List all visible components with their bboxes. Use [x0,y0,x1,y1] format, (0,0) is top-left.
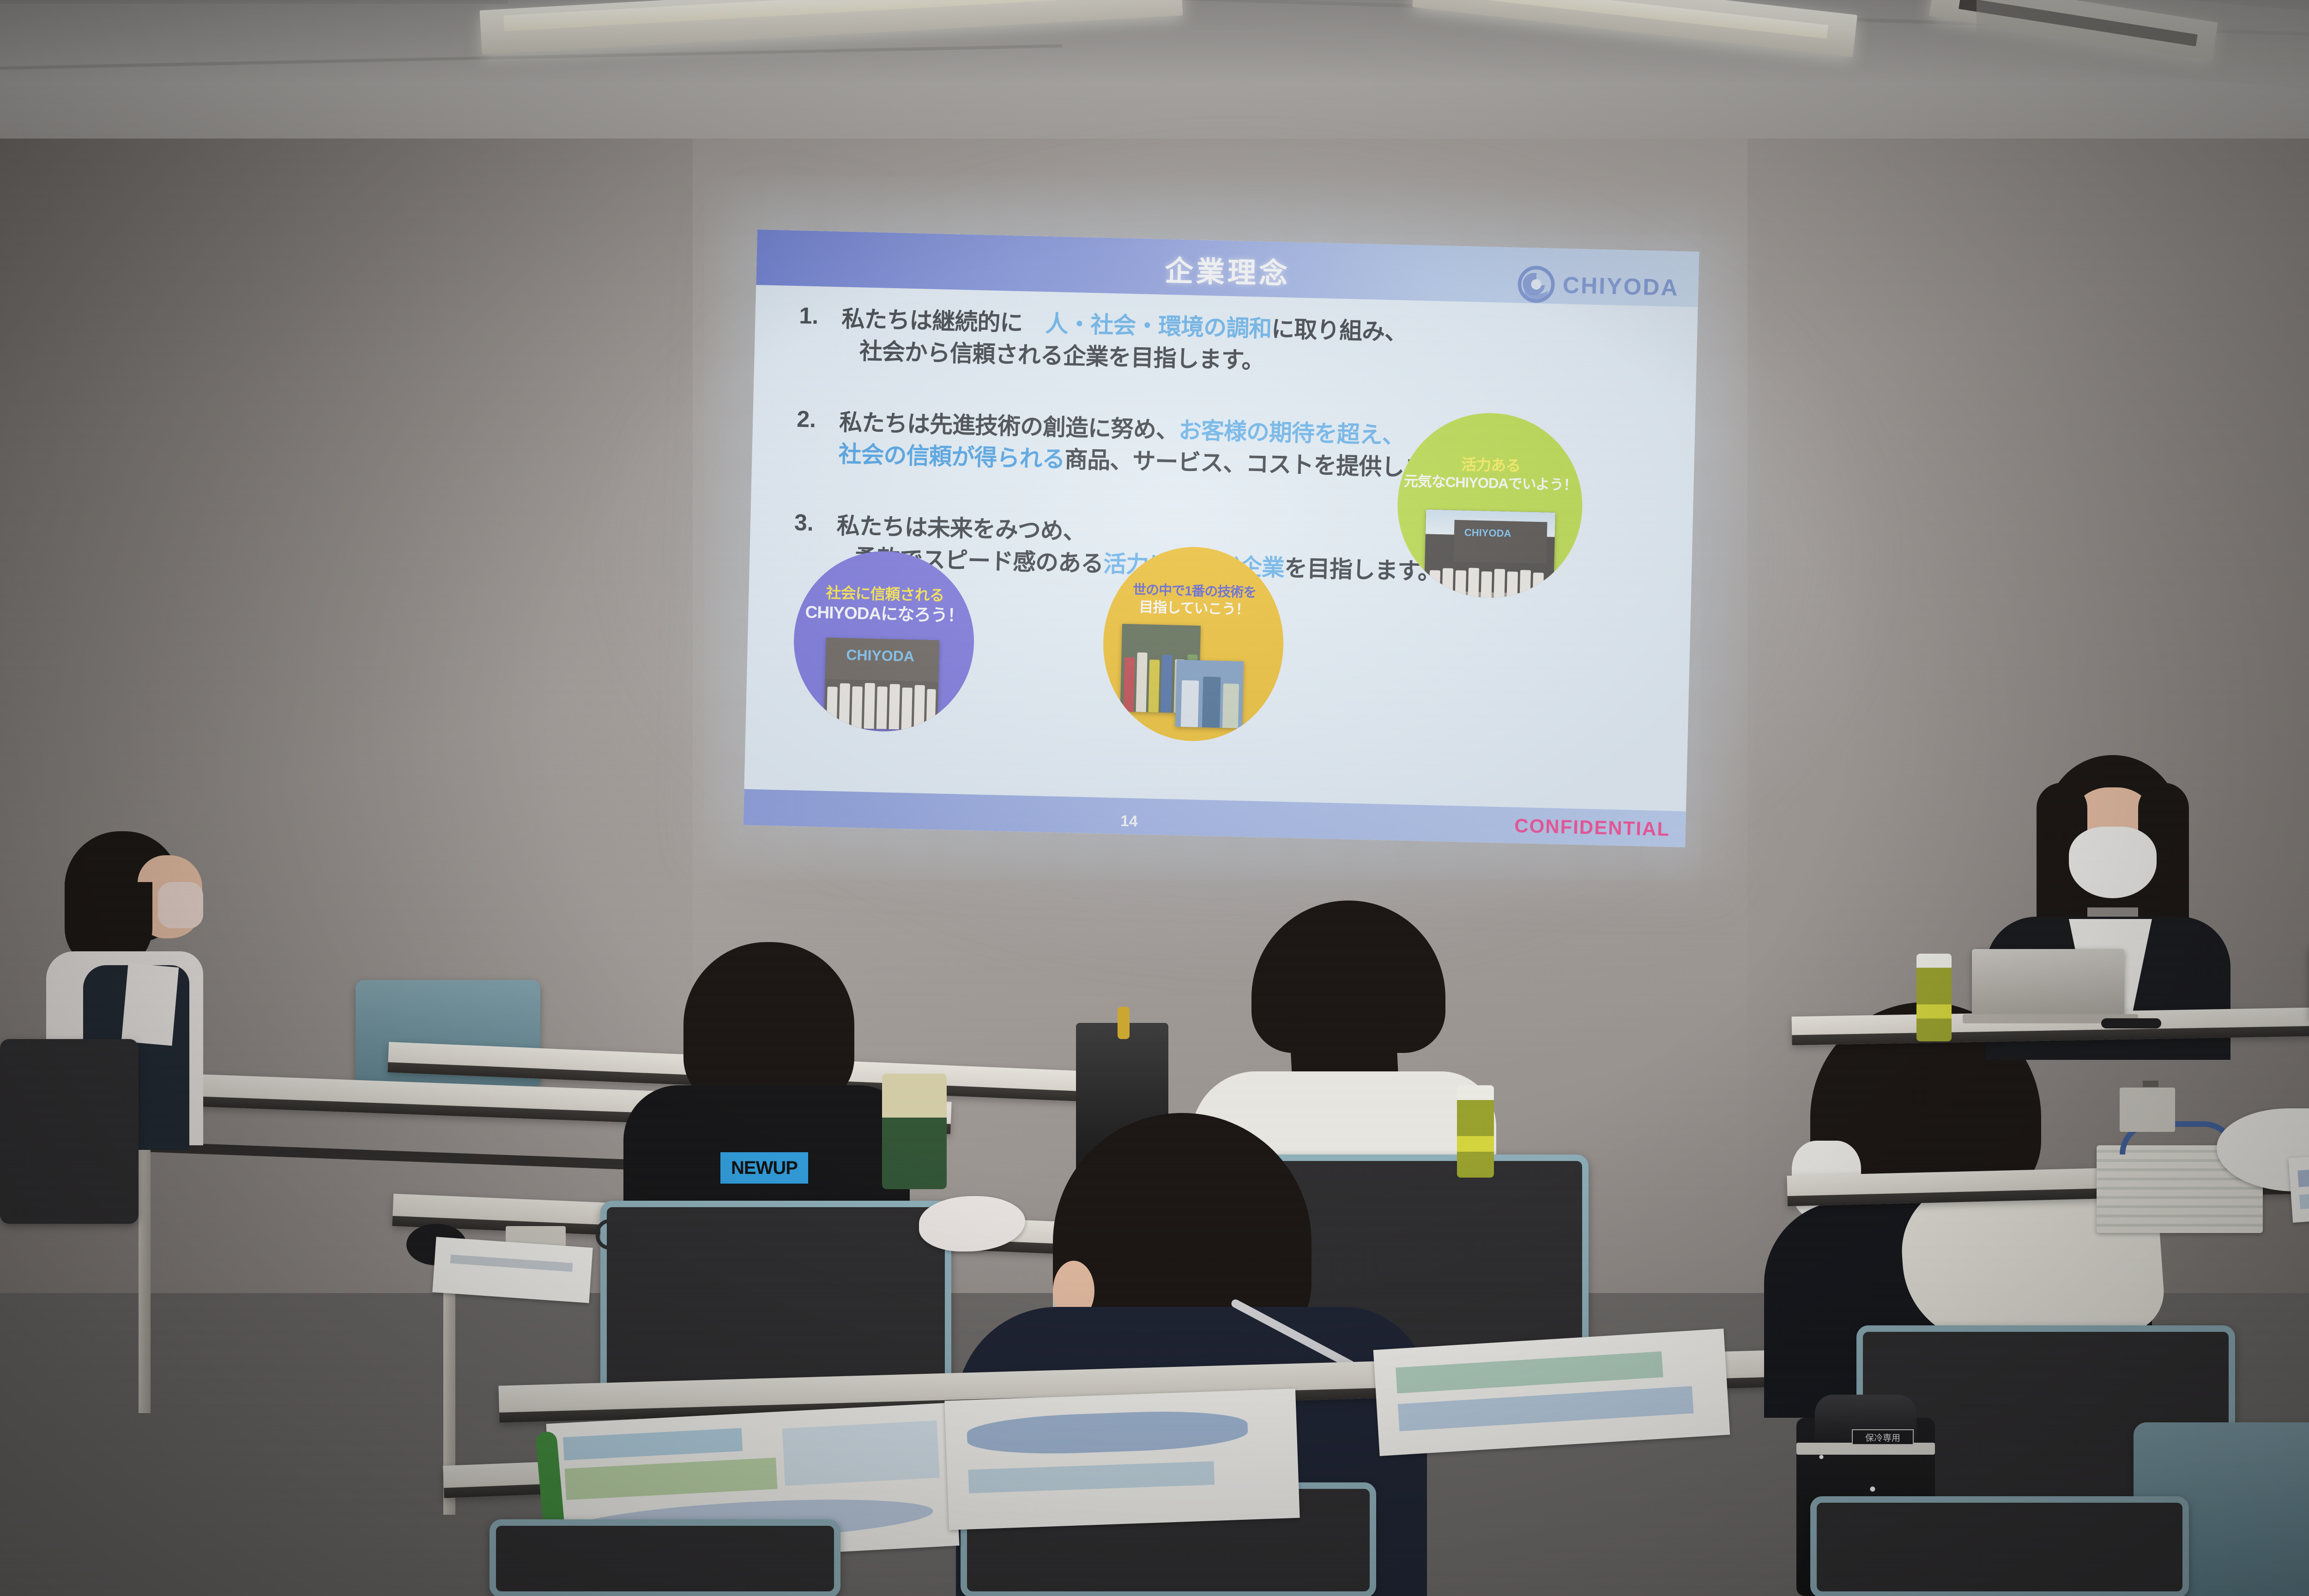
circle-photo [1175,660,1244,728]
bullet-seg-highlight: 人・社会・環境の調和 [1045,311,1272,342]
bullet-item: 1. 私たちは継続的に 人・社会・環境の調和に取り組み、 社会から信頼される企業… [798,302,1520,383]
bullet-seg: 私たちは未来をみつめ、 [836,513,1086,544]
bottle-cooler-label: 保冷専用 [1852,1429,1914,1445]
bullet-seg: 私たちは継続的に [841,306,1046,336]
wall-outlet [2143,1081,2158,1087]
bullet-seg-highlight: お客様の期待を超え、 [1178,417,1405,449]
slide-page-number: 14 [1120,812,1138,831]
bullet-number: 1. [798,302,842,367]
bullet-seg: に取り組み、 [1271,316,1408,345]
shirt-patch-text: NEWUP [720,1152,808,1184]
circle-caption-bottom: 元気なCHIYODAでいよう！ [1398,472,1583,495]
chiyoda-mark-icon [1516,264,1557,305]
classroom-scene: 企業理念 CHIYODA 1. 私たちは継続的に 人・社会・環境の調和に取り組み… [0,0,2309,1596]
circle-caption-bottom: CHIYODAになろう！ [794,601,975,627]
glasses [596,1219,645,1250]
chiyoda-logo: CHIYODA [1516,264,1680,308]
tea-bottle-right [1916,954,1952,1041]
laptop[interactable] [1972,949,2124,1016]
brochure-sheets[interactable] [1373,1329,1730,1456]
photo-chiyoda-label: CHIYODA [1464,526,1511,539]
circle-caption-bottom: 目指していこう！ [1104,598,1285,620]
projection-screen: 企業理念 CHIYODA 1. 私たちは継続的に 人・社会・環境の調和に取り組み… [743,230,1699,847]
confidential-label: CONFIDENTIAL [1514,815,1670,840]
chair-front-right[interactable] [1810,1496,2189,1596]
circle-photo: CHIYODA [1424,509,1555,600]
bottle-holder-strap [1118,1007,1130,1039]
ceiling-seam [0,0,508,4]
tea-bottle [1457,1085,1494,1178]
brochure-open[interactable] [944,1389,1300,1530]
bullet-number: 3. [793,509,837,574]
face-mask [158,882,203,928]
bullet-seg: 社会から信頼される企業を目指します。 [859,338,1264,374]
wall-outlet [2120,1088,2175,1132]
bullet-number: 2. [796,405,840,470]
papers-left[interactable] [432,1237,593,1303]
photo-chiyoda-label: CHIYODA [846,646,914,665]
bullet-seg: 私たちは先進技術の創造に努め、 [839,409,1179,443]
face-mask [2069,827,2157,898]
chiyoda-logo-text: CHIYODA [1562,272,1679,301]
bullet-seg-highlight: 社会の信頼が得られる [838,441,1065,472]
chair-front-left[interactable] [490,1519,840,1596]
shirt-collar [121,963,179,1046]
circle-photo: CHIYODA [824,638,940,731]
chair-staff-left[interactable] [0,1039,139,1224]
hair [683,942,854,1108]
stylus-pen [2101,1018,2161,1028]
slide-title: 企業理念 [1164,248,1291,292]
